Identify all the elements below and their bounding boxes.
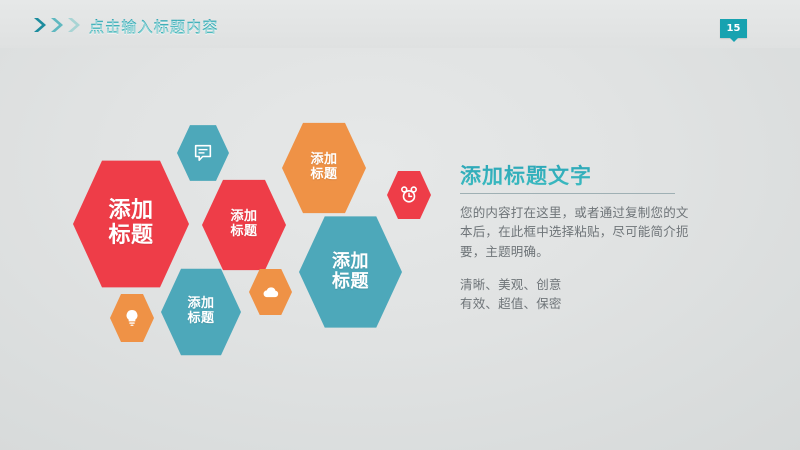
hexagon-teal-chat[interactable]	[177, 124, 229, 182]
hexagon-red-large[interactable]: 添加 标题	[73, 158, 189, 290]
chat-bubble-icon	[193, 143, 213, 163]
hexagon-label: 添加 标题	[332, 252, 369, 292]
slide-canvas: 点击输入标题内容 15 添加 标题 添加 标题 添加 标题	[0, 0, 800, 450]
hexagon-label: 添加 标题	[310, 153, 337, 182]
hexagon-label: 添加 标题	[187, 297, 214, 326]
lightbulb-icon	[122, 308, 142, 328]
content-text-block: 添加标题文字 您的内容打在这里，或者通过复制您的文本后，在此框中选择粘贴，尽可能…	[460, 160, 730, 313]
cloud-icon	[261, 282, 281, 302]
hexagon-cluster: 添加 标题 添加 标题 添加 标题 添加 标题	[0, 0, 470, 450]
page-number-badge: 15	[720, 19, 747, 38]
title-underline	[460, 193, 675, 194]
hexagon-label: 添加 标题	[230, 210, 257, 239]
hexagon-orange-cloud[interactable]	[249, 268, 292, 316]
hexagon-label: 添加 标题	[108, 199, 153, 248]
hexagon-teal-medium[interactable]: 添加 标题	[161, 267, 241, 357]
hexagon-red-medium[interactable]: 添加 标题	[202, 178, 286, 272]
content-keywords: 清晰、美观、创意 有效、超值、保密	[460, 275, 730, 313]
hexagon-teal-large[interactable]: 添加 标题	[299, 214, 402, 330]
hexagon-red-alarm[interactable]	[387, 170, 431, 220]
content-paragraph: 您的内容打在这里，或者通过复制您的文本后，在此框中选择粘贴，尽可能简介扼要，主题…	[460, 203, 692, 261]
hexagon-orange-medium[interactable]: 添加 标题	[282, 121, 366, 215]
alarm-clock-icon	[399, 185, 419, 205]
hexagon-orange-lightbulb[interactable]	[110, 293, 154, 343]
content-title: 添加标题文字	[460, 160, 730, 193]
